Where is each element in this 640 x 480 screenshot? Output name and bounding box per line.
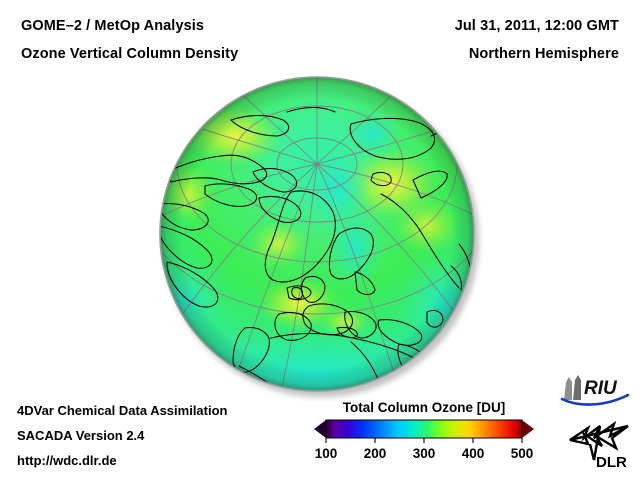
header-region: Northern Hemisphere [469, 46, 619, 62]
globe-map [159, 76, 475, 392]
colorbar-tick-label-100: 100 [315, 446, 338, 461]
riu-tower-icon [564, 375, 581, 400]
globe-svg [159, 76, 475, 392]
riu-logo: RIU [558, 374, 632, 408]
colorbar-arrow-left [314, 420, 326, 438]
colorbar-gradient-bar [326, 420, 522, 438]
colorbar-arrow-right [522, 420, 534, 438]
ozone-analysis-figure: GOME–2 / MetOp Analysis Ozone Vertical C… [0, 0, 640, 480]
header-timestamp: Jul 31, 2011, 12:00 GMT [455, 18, 619, 34]
colorbar-tick-label-200: 200 [364, 446, 387, 461]
colorbar-ticks [326, 438, 522, 443]
dlr-wordmark: DLR [596, 454, 627, 470]
dlr-logo: DLR [566, 414, 632, 470]
colorbar-tick-label-400: 400 [462, 446, 485, 461]
colorbar-tick-labels: 100200300400500 [306, 446, 542, 468]
colorbar: Total Column Ozone [DU] 100200300400500 [306, 400, 542, 475]
globe-limb-shading [160, 77, 474, 391]
footer-method: 4DVar Chemical Data Assimilation [17, 403, 228, 418]
colorbar-tick-label-300: 300 [413, 446, 436, 461]
riu-wordmark: RIU [584, 378, 618, 399]
colorbar-tick-label-500: 500 [511, 446, 534, 461]
colorbar-title: Total Column Ozone [DU] [306, 400, 542, 415]
colorbar-swatch [306, 418, 542, 446]
header-instrument-title: GOME–2 / MetOp Analysis [21, 18, 204, 34]
footer-url[interactable]: http://wdc.dlr.de [17, 453, 117, 468]
header-product-title: Ozone Vertical Column Density [21, 46, 238, 62]
footer-version: SACADA Version 2.4 [17, 428, 144, 443]
